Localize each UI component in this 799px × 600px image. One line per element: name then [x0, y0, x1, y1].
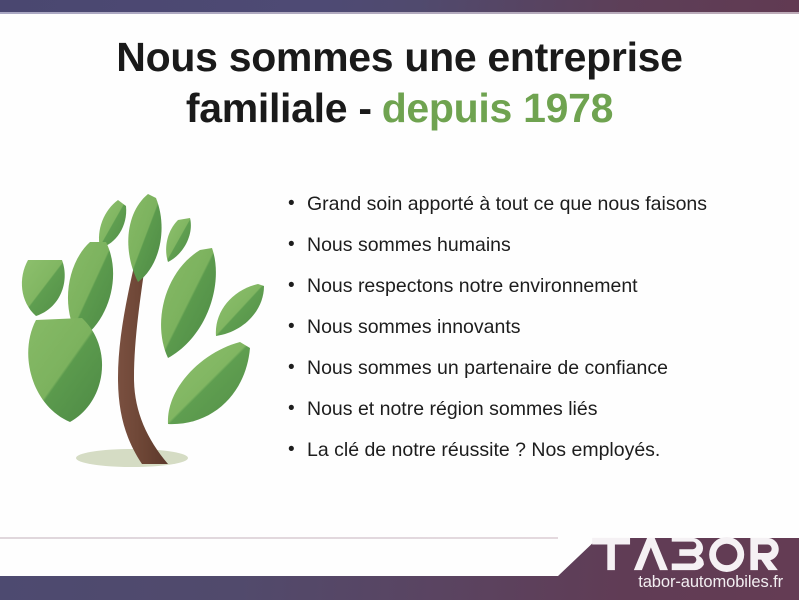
list-item: • Nous sommes un partenaire de confiance [288, 354, 768, 395]
list-item-label: Nous sommes innovants [307, 313, 521, 341]
bullet-icon: • [288, 354, 307, 382]
list-item: • Nous sommes innovants [288, 313, 768, 354]
bullet-icon: • [288, 190, 307, 218]
bullet-list: • Grand soin apporté à tout ce que nous … [288, 190, 768, 477]
bullet-icon: • [288, 231, 307, 259]
list-item-label: Nous sommes un partenaire de confiance [307, 354, 668, 382]
list-item-label: Nous sommes humains [307, 231, 511, 259]
logo-tagline: tabor-automobiles.fr [587, 573, 783, 592]
list-item-label: Grand soin apporté à tout ce que nous fa… [307, 190, 707, 218]
bottom-band-hairline [0, 537, 558, 539]
bullet-icon: • [288, 395, 307, 423]
tree-shadow [76, 449, 188, 467]
bullet-icon: • [288, 313, 307, 341]
list-item: • Nous respectons notre environnement [288, 272, 768, 313]
tree-illustration [18, 192, 270, 482]
list-item: • Grand soin apporté à tout ce que nous … [288, 190, 768, 231]
title-line-1: Nous sommes une entreprise [0, 36, 799, 79]
list-item: • La clé de notre réussite ? Nos employé… [288, 436, 768, 477]
brand-logo[interactable]: tabor-automobiles.fr [587, 536, 783, 592]
title-line-2: familiale -depuis 1978 [0, 87, 799, 130]
top-decorative-band [0, 0, 799, 12]
bullet-icon: • [288, 272, 307, 300]
list-item-label: La clé de notre réussite ? Nos employés. [307, 436, 660, 464]
list-item-label: Nous et notre région sommes liés [307, 395, 597, 423]
tabor-wordmark-icon [587, 536, 783, 572]
slide-canvas: Nous sommes une entreprise familiale -de… [0, 0, 799, 600]
title-accent-depuis: depuis 1978 [382, 85, 613, 131]
page-title: Nous sommes une entreprise familiale -de… [0, 36, 799, 130]
list-item: • Nous et notre région sommes liés [288, 395, 768, 436]
top-band-hairline [0, 12, 799, 14]
bullet-icon: • [288, 436, 307, 464]
list-item: • Nous sommes humains [288, 231, 768, 272]
title-line-2-plain: familiale - [186, 85, 372, 131]
tree-leaves [22, 194, 264, 424]
list-item-label: Nous respectons notre environnement [307, 272, 638, 300]
